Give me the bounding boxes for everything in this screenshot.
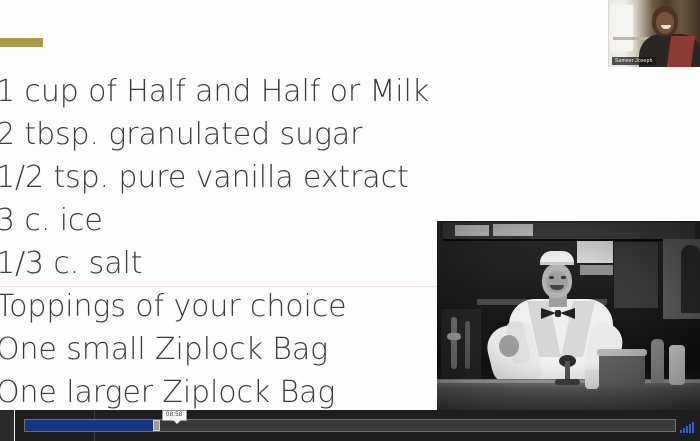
signal-strength-icon bbox=[680, 421, 694, 433]
section-divider bbox=[0, 286, 468, 287]
webcam-person-face bbox=[656, 12, 674, 34]
embedded-video[interactable] bbox=[437, 221, 700, 411]
webcam-thumbnail[interactable]: Sameer Joseph bbox=[608, 0, 700, 67]
webcam-person-shirt bbox=[667, 36, 695, 67]
time-tooltip: 08:58 bbox=[162, 410, 187, 421]
player-left-control[interactable] bbox=[0, 410, 15, 441]
presentation-slide: 1 cup of Half and Half or Milk 2 tbsp. g… bbox=[0, 0, 700, 441]
progress-bar-fill bbox=[25, 420, 156, 431]
progress-scrubber-handle[interactable] bbox=[153, 420, 160, 431]
signal-bar bbox=[683, 428, 685, 433]
list-item: 2 tbsp. granulated sugar bbox=[0, 113, 640, 156]
list-item: 1/2 tsp. pure vanilla extract bbox=[0, 156, 640, 199]
signal-bar bbox=[692, 422, 694, 433]
signal-bar bbox=[686, 426, 688, 433]
progress-bar-track[interactable]: 08:58 bbox=[24, 419, 676, 432]
signal-bar bbox=[680, 430, 682, 433]
list-item: 1 cup of Half and Half or Milk bbox=[0, 70, 640, 113]
video-player-bar[interactable]: 08:58 bbox=[0, 410, 700, 441]
accent-bar bbox=[0, 38, 43, 47]
webcam-wall-panel bbox=[611, 5, 633, 51]
video-vignette bbox=[437, 221, 700, 411]
participant-name-label: Sameer Joseph bbox=[612, 57, 656, 65]
signal-bar bbox=[689, 424, 691, 433]
